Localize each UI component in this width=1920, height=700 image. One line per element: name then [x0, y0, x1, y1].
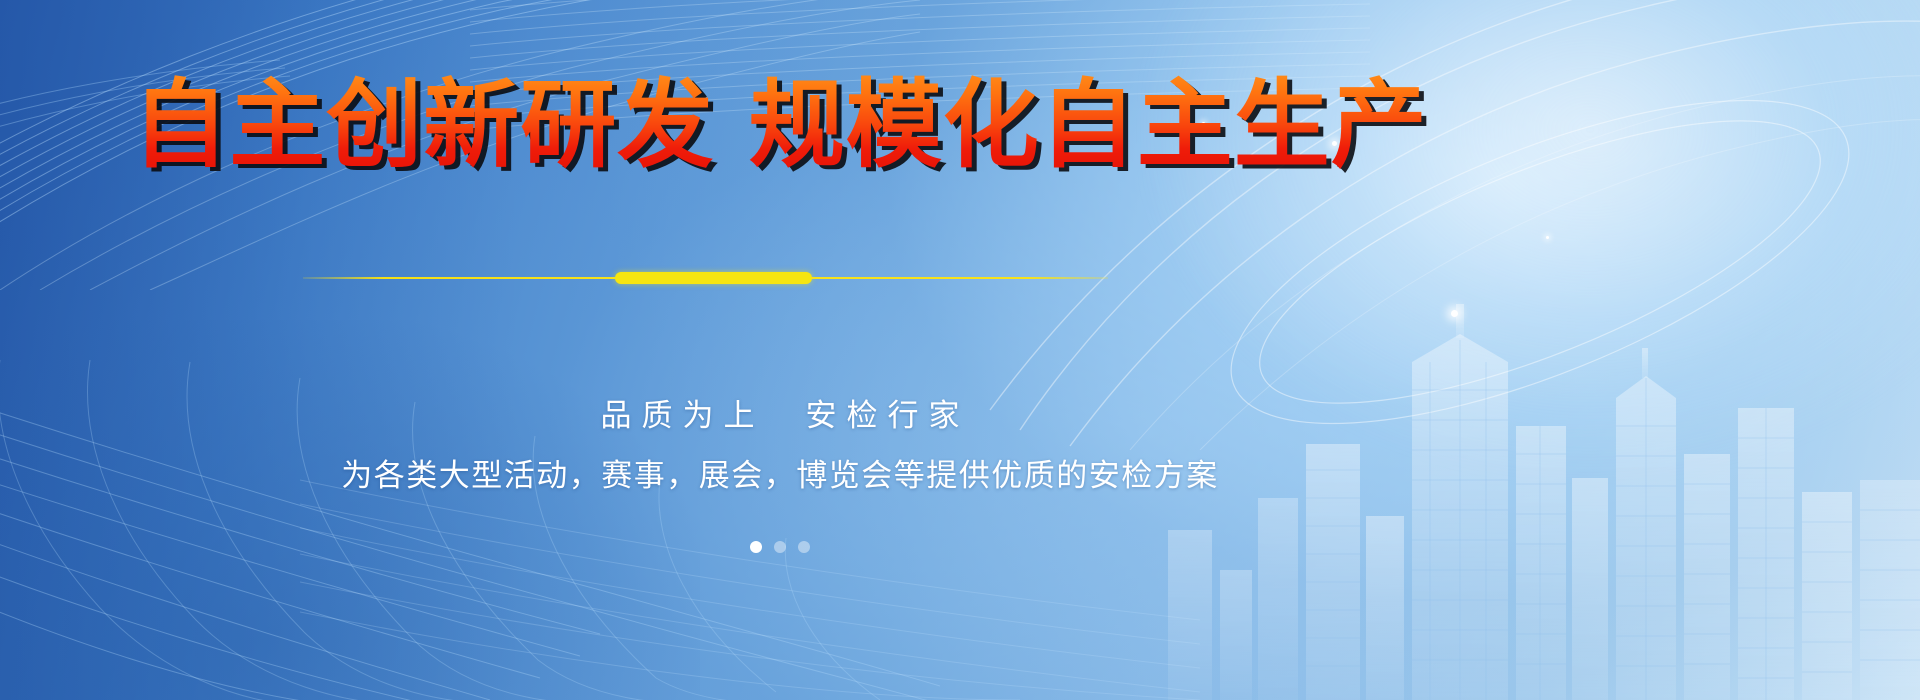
hero-banner: 自主创新研发 规模化自主生产 品质为上 安检行家 为各类大型活动，赛事，展会，博…: [0, 0, 1920, 700]
subtitle-secondary: 为各类大型活动，赛事，展会，博览会等提供优质的安检方案: [0, 450, 1560, 495]
banner-content: 自主创新研发 规模化自主生产 品质为上 安检行家 为各类大型活动，赛事，展会，博…: [0, 0, 1560, 700]
carousel-indicators[interactable]: [0, 541, 1560, 553]
title-divider: [303, 272, 1108, 284]
divider-accent-bar: [615, 272, 812, 284]
page-title: 自主创新研发 规模化自主生产: [0, 74, 1560, 178]
subtitle-primary: 品质为上 安检行家: [0, 390, 1560, 435]
carousel-dot-1[interactable]: [750, 541, 762, 553]
carousel-dot-3[interactable]: [798, 541, 810, 553]
carousel-dot-2[interactable]: [774, 541, 786, 553]
